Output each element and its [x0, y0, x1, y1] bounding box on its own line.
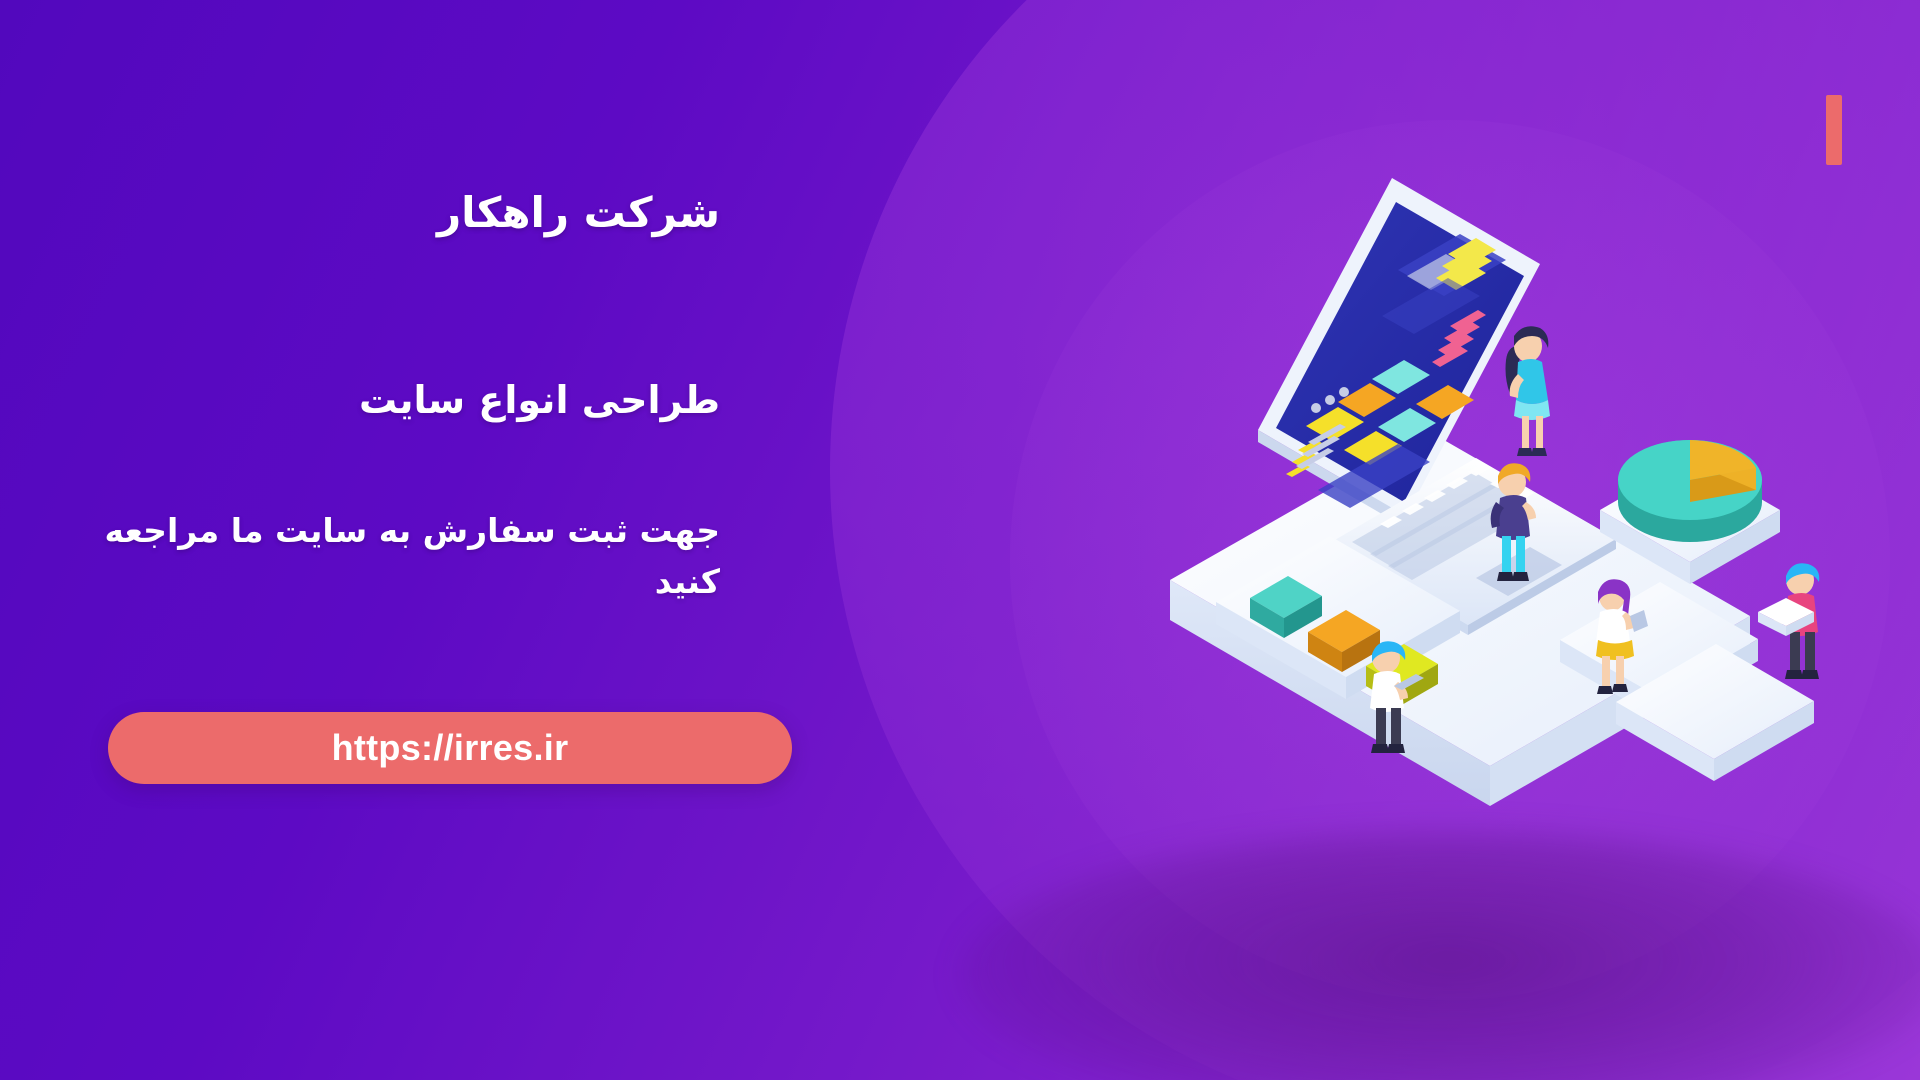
promo-banner: شرکت راهکار طراحی انواع سایت جهت ثبت سفا…: [0, 0, 1920, 1080]
person-woman-teal: [1506, 326, 1551, 456]
page-title: شرکت راهکار: [40, 185, 720, 242]
person-man-blue-hair: [1758, 563, 1819, 679]
subtitle: طراحی انواع سایت: [40, 375, 720, 426]
isometric-illustration: [1130, 150, 1910, 850]
text-content-column: شرکت راهکار طراحی انواع سایت جهت ثبت سفا…: [0, 0, 830, 1080]
website-url-button[interactable]: https://irres.ir: [108, 712, 792, 784]
call-to-action-text: جهت ثبت سفارش به سایت ما مراجعه کنید: [50, 505, 720, 607]
